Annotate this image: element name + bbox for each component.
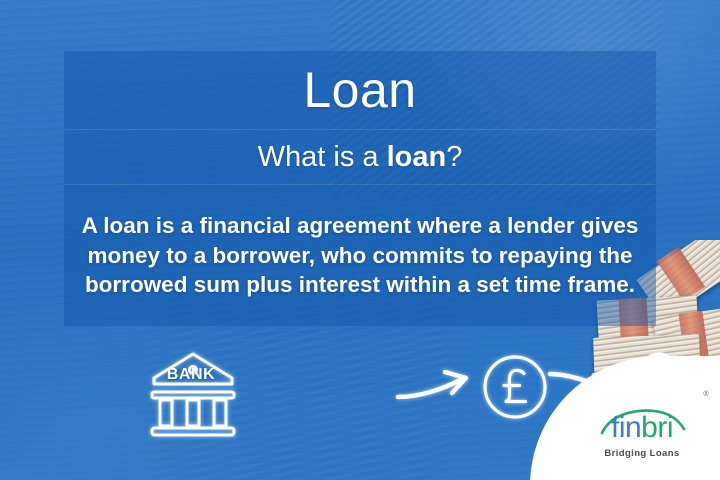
registered-trademark-icon: ® bbox=[703, 391, 708, 398]
bank-icon-label: BANK bbox=[148, 366, 234, 384]
subtitle-trail: ? bbox=[446, 141, 462, 173]
logo-tagline: Bridging Loans bbox=[578, 449, 706, 459]
logo-word-first: fin bbox=[611, 411, 641, 444]
arrow-right-icon bbox=[396, 370, 472, 404]
title-band: Loan bbox=[64, 51, 656, 130]
loan-flow-diagram: BANK bbox=[148, 344, 558, 452]
body-paragraph: A loan is a financial agreement where a … bbox=[64, 211, 656, 301]
infographic-canvas: Loan What is a loan? A loan is a financi… bbox=[0, 0, 720, 480]
subtitle-emphasis: loan bbox=[387, 141, 447, 173]
pound-coin-icon bbox=[480, 352, 550, 422]
logo-wordmark: finbri® bbox=[578, 413, 706, 443]
subtitle-lead: What is a bbox=[258, 141, 387, 173]
body-band: A loan is a financial agreement where a … bbox=[64, 185, 656, 326]
subtitle-band: What is a loan? bbox=[64, 130, 656, 185]
text-panel: Loan What is a loan? A loan is a financi… bbox=[64, 51, 656, 326]
page-title: Loan bbox=[303, 65, 416, 115]
bank-icon bbox=[148, 348, 238, 440]
finbri-logo[interactable]: finbri® Bridging Loans bbox=[578, 413, 706, 459]
logo-word-second: bri bbox=[641, 411, 673, 444]
subtitle: What is a loan? bbox=[258, 143, 463, 172]
